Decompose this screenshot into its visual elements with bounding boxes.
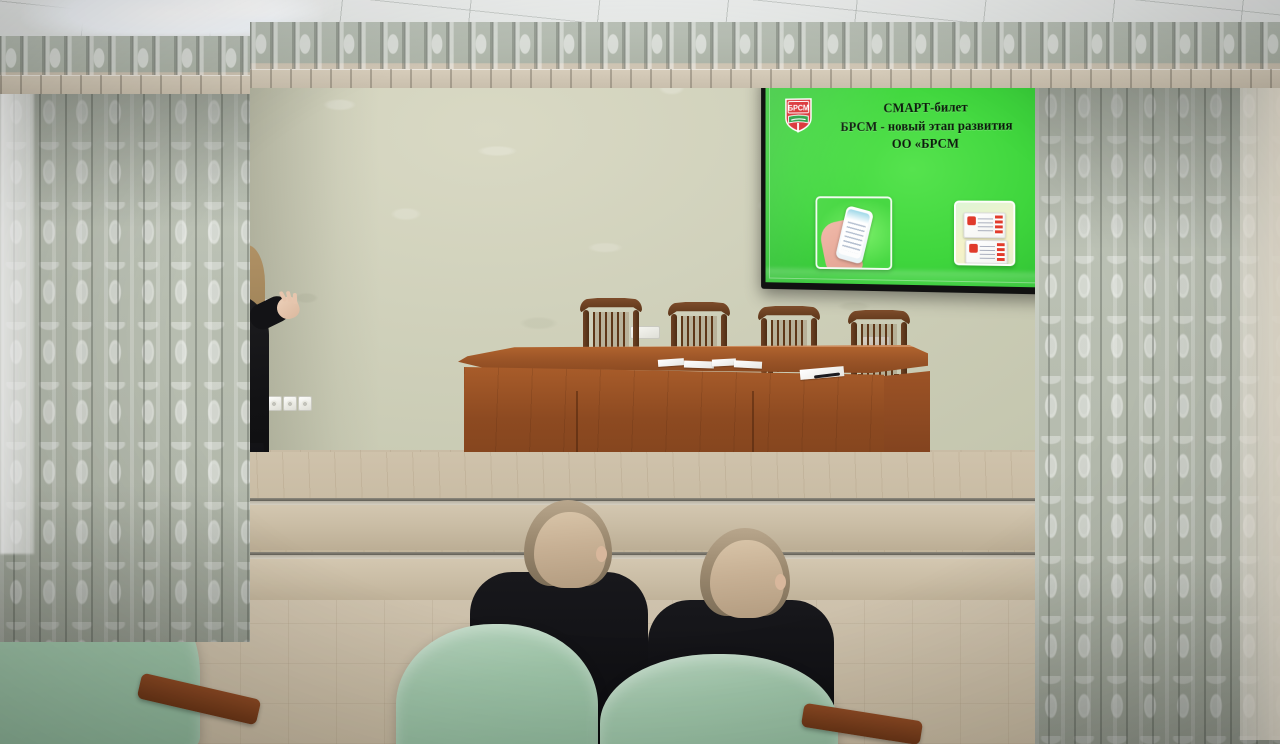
valance-hem [0, 75, 250, 94]
paper-sheet[interactable] [684, 360, 714, 368]
sheer-curtain [1240, 80, 1280, 740]
slide: БРСМ СМАРТ-билет БРСМ - новый этап разви… [766, 71, 1068, 288]
seated-attendee-left-head [534, 512, 606, 588]
paper-sheet[interactable] [734, 360, 762, 368]
power-outlet[interactable] [298, 396, 312, 411]
slide-title-line-2: БРСМ - новый этап развития [801, 116, 1055, 137]
slide-title: СМАРТ-билет БРСМ - новый этап развития О… [801, 97, 1055, 154]
seated-attendee-left-ear [596, 546, 607, 562]
curtain-valance-right [250, 22, 1280, 88]
valance-hem [250, 69, 1280, 88]
sheer-curtain [0, 84, 34, 554]
membership-card [965, 240, 1007, 264]
membership-cards-photo [954, 201, 1015, 267]
card-red-stripe [997, 243, 1005, 261]
card-red-stripe [995, 216, 1003, 236]
paper-sheet[interactable] [712, 358, 736, 366]
presenter-finger [293, 293, 297, 304]
card-emblem [967, 216, 976, 225]
card-emblem [969, 244, 978, 253]
membership-card [963, 212, 1005, 238]
card-text-lines [980, 246, 995, 260]
card-text-lines [978, 218, 993, 232]
curtain-shading [0, 82, 250, 642]
seated-attendee-right-head [710, 540, 784, 618]
ceiling-light-glow [150, 0, 340, 18]
presentation-display[interactable]: БРСМ СМАРТ-билет БРСМ - новый этап разви… [761, 66, 1072, 295]
curtain-valance-left [0, 36, 250, 94]
phone-in-hand-photo [815, 196, 892, 270]
thumbnail-reflection [766, 268, 1068, 288]
conference-hall-photo: БРСМ СМАРТ-билет БРСМ - новый этап разви… [0, 0, 1280, 744]
seated-attendee-right-ear [775, 574, 786, 590]
curtain-left [0, 82, 250, 642]
slide-title-line-3: ОО «БРСМ [801, 134, 1055, 154]
slide-thumbnails [766, 194, 1068, 281]
